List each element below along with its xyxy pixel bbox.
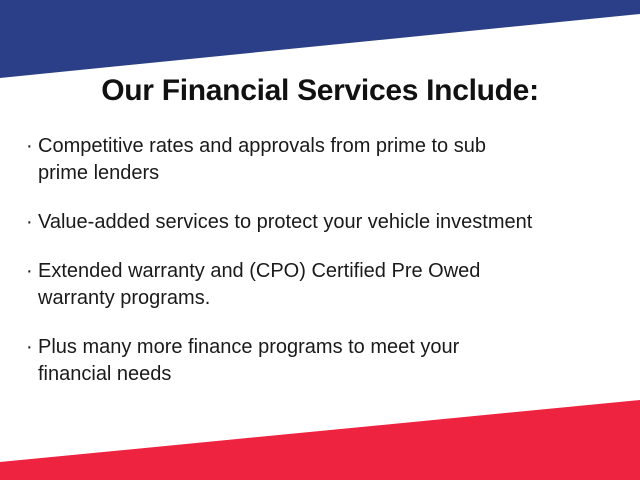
- list-item-text: Extended warranty and (CPO) Certified Pr…: [38, 258, 622, 312]
- bullet-list: · Competitive rates and approvals from p…: [26, 133, 622, 388]
- list-item-text: Competitive rates and approvals from pri…: [38, 133, 622, 187]
- list-item: · Value-added services to protect your v…: [26, 209, 622, 236]
- bullet-dot-icon: ·: [26, 334, 38, 361]
- bullet-dot-icon: ·: [26, 133, 38, 160]
- bottom-diagonal-band-red: [0, 390, 640, 480]
- list-item: · Extended warranty and (CPO) Certified …: [26, 258, 622, 312]
- bullet-dot-icon: ·: [26, 258, 38, 285]
- list-item: · Competitive rates and approvals from p…: [26, 133, 622, 187]
- list-item-text: Plus many more finance programs to meet …: [38, 334, 622, 388]
- list-item: · Plus many more finance programs to mee…: [26, 334, 622, 388]
- slide-title: Our Financial Services Include:: [0, 74, 640, 107]
- list-item-text: Value-added services to protect your veh…: [38, 209, 622, 236]
- slide-canvas: Our Financial Services Include: · Compet…: [0, 0, 640, 480]
- bullet-dot-icon: ·: [26, 209, 38, 236]
